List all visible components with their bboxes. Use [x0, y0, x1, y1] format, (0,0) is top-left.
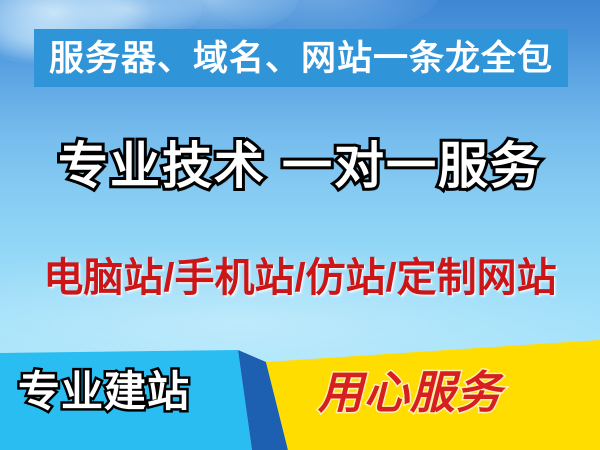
bottom-ribbon-group: 专业建站 用心服务 [0, 340, 600, 450]
ribbon-left-label: 专业建站 [18, 371, 190, 413]
headline-services: 电脑站/手机站/仿站/定制网站 [0, 256, 600, 300]
headline-secondary-text: 专业技术 一对一服务 [58, 139, 542, 194]
headline-secondary: 专业技术 一对一服务 [0, 139, 600, 194]
headline-primary-text: 服务器、域名、网站一条龙全包 [49, 41, 553, 76]
ribbon-right-label: 用心服务 [318, 370, 502, 415]
headline-services-text: 电脑站/手机站/仿站/定制网站 [43, 256, 556, 300]
headline-bar-primary: 服务器、域名、网站一条龙全包 [34, 29, 568, 87]
promo-poster: 服务器、域名、网站一条龙全包 专业技术 一对一服务 电脑站/手机站/仿站/定制网… [0, 0, 600, 450]
